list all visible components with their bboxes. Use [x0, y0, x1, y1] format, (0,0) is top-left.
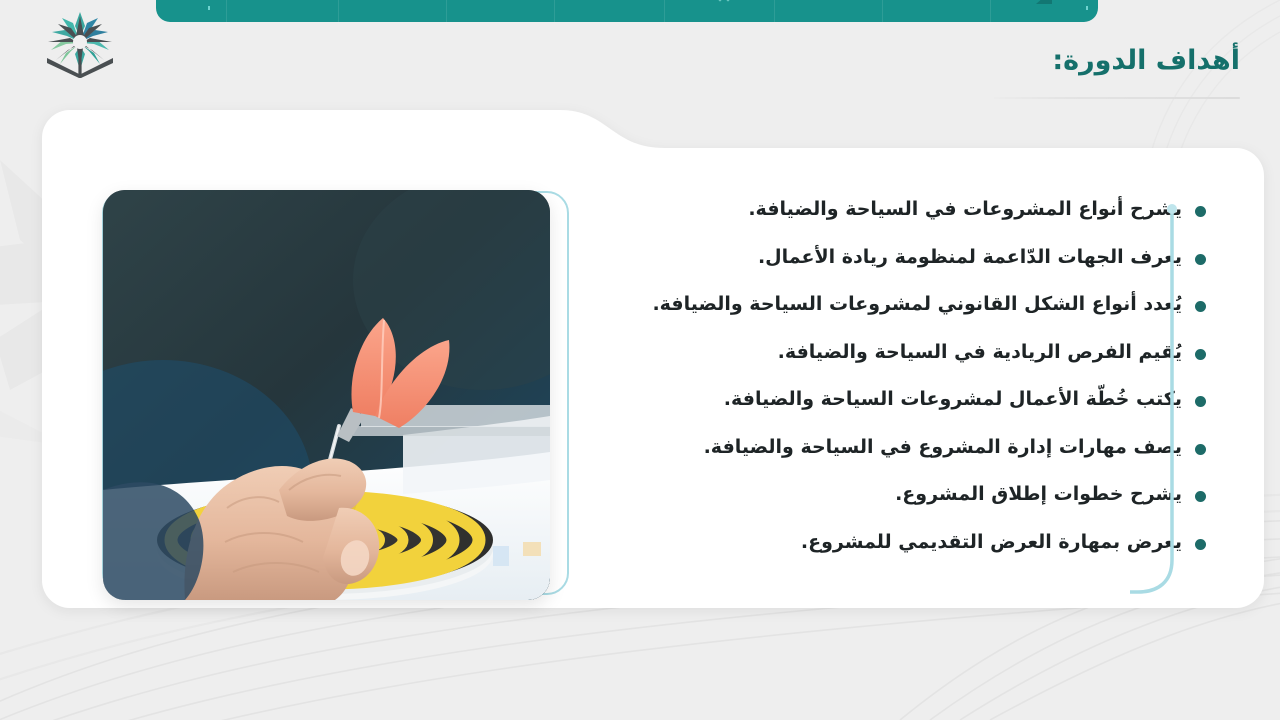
decorative-top-bar — [156, 0, 1098, 22]
tvtc-star-logo — [42, 10, 118, 80]
list-item: يصف مهارات إدارة المشروع في السياحة والض… — [642, 434, 1206, 462]
objective-text: يعرض بمهارة العرض التقديمي للمشروع. — [642, 529, 1182, 557]
bullet-dot-icon — [1195, 254, 1206, 265]
objectives-list: يشرح أنواع المشروعات في السياحة والضيافة… — [642, 196, 1242, 556]
objective-text: يصف مهارات إدارة المشروع في السياحة والض… — [642, 434, 1182, 462]
bullet-dot-icon — [1195, 301, 1206, 312]
objective-text: يشرح أنواع المشروعات في السياحة والضيافة… — [642, 196, 1182, 224]
list-item: يعرف الجهات الدّاعمة لمنظومة ريادة الأعم… — [642, 244, 1206, 272]
title-divider — [994, 97, 1240, 99]
page-title-block: أهداف الدورة: — [980, 44, 1240, 99]
objectives-items: يشرح أنواع المشروعات في السياحة والضيافة… — [642, 196, 1206, 556]
list-item: يشرح خطوات إطلاق المشروع. — [642, 481, 1206, 509]
dot-grid-icon — [716, 0, 744, 2]
bullet-dot-icon — [1195, 349, 1206, 360]
list-item: يكتب خُطّة الأعمال لمشروعات السياحة والض… — [642, 386, 1206, 414]
objective-text: يعرف الجهات الدّاعمة لمنظومة ريادة الأعم… — [642, 244, 1182, 272]
list-item: يُقيم الفرص الريادية في السياحة والضيافة… — [642, 339, 1206, 367]
list-item: يشرح أنواع المشروعات في السياحة والضيافة… — [642, 196, 1206, 224]
bullet-dot-icon — [1195, 444, 1206, 455]
bullet-dot-icon — [1195, 539, 1206, 550]
list-item: يعرض بمهارة العرض التقديمي للمشروع. — [642, 529, 1206, 557]
objective-text: يشرح خطوات إطلاق المشروع. — [642, 481, 1182, 509]
bullet-dot-icon — [1195, 396, 1206, 407]
objective-text: يُعدد أنواع الشكل القانوني لمشروعات السي… — [642, 291, 1182, 319]
list-item: يُعدد أنواع الشكل القانوني لمشروعات السي… — [642, 291, 1206, 319]
page-title: أهداف الدورة: — [980, 44, 1240, 78]
dart-and-target-photo — [103, 190, 550, 600]
objective-text: يكتب خُطّة الأعمال لمشروعات السياحة والض… — [642, 386, 1182, 414]
slide-canvas: أهداف الدورة: — [0, 0, 1280, 720]
background-corner-texture — [950, 0, 1280, 210]
bullet-dot-icon — [1195, 491, 1206, 502]
objective-text: يُقيم الفرص الريادية في السياحة والضيافة… — [642, 339, 1182, 367]
bullet-dot-icon — [1195, 206, 1206, 217]
triangle-accent-icon — [1036, 0, 1052, 4]
